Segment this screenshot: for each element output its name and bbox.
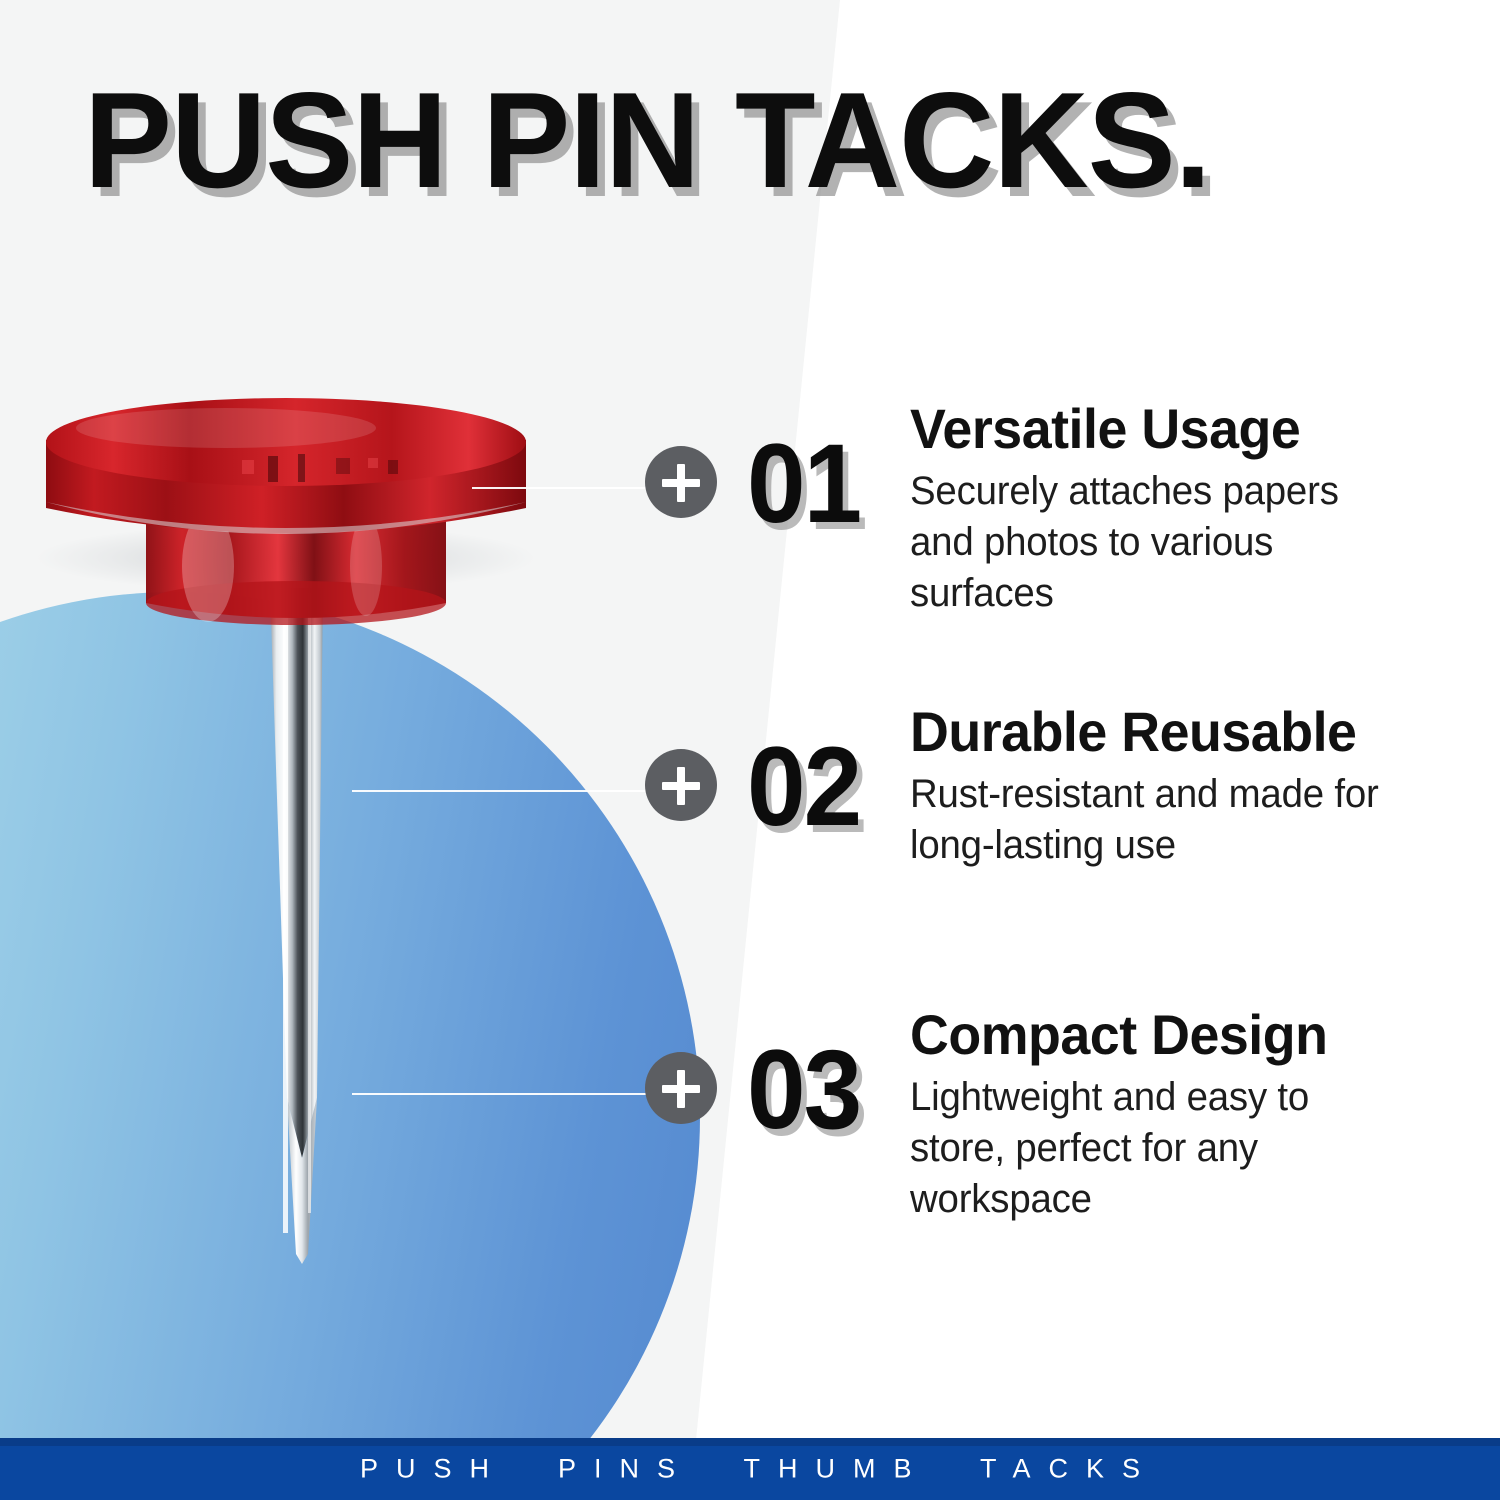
feature-item-3: 03 Compact Design Lightweight and easy t… [645, 1006, 1430, 1226]
plus-icon-vertical-bar [677, 1070, 685, 1108]
feature-text-3: Compact Design Lightweight and easy to s… [910, 1006, 1430, 1226]
plus-icon-vertical-bar [677, 767, 685, 805]
banner-text: PUSH PINS THUMB TACKS [0, 1454, 1500, 1485]
infographic-canvas: PUSH PIN TACKS. [0, 0, 1500, 1500]
bottom-banner: PUSH PINS THUMB TACKS [0, 1438, 1500, 1500]
connector-line-2 [352, 790, 664, 792]
feature-item-1: 01 Versatile Usage Securely attaches pap… [645, 400, 1430, 620]
feature-number-3: 03 [747, 1034, 860, 1146]
feature-description-3: Lightweight and easy to store, perfect f… [910, 1072, 1409, 1226]
plus-icon [645, 446, 717, 518]
connector-line-1 [472, 487, 664, 489]
feature-heading-2: Durable Reusable [910, 703, 1409, 760]
feature-text-1: Versatile Usage Securely attaches papers… [910, 400, 1430, 620]
feature-heading-1: Versatile Usage [910, 400, 1409, 457]
plus-icon [645, 749, 717, 821]
feature-description-1: Securely attaches papers and photos to v… [910, 466, 1409, 620]
feature-description-2: Rust-resistant and made for long-lasting… [910, 769, 1409, 871]
plus-icon [645, 1052, 717, 1124]
feature-number-2: 02 [747, 731, 860, 843]
feature-heading-3: Compact Design [910, 1006, 1409, 1063]
push-pin-illustration [36, 398, 556, 1268]
feature-text-2: Durable Reusable Rust-resistant and made… [910, 703, 1430, 871]
feature-number-1: 01 [747, 428, 860, 540]
connector-line-3 [352, 1093, 664, 1095]
feature-item-2: 02 Durable Reusable Rust-resistant and m… [645, 703, 1430, 871]
banner-top-shade [0, 1438, 1500, 1446]
page-title: PUSH PIN TACKS. [84, 72, 1210, 208]
plus-icon-vertical-bar [677, 464, 685, 502]
